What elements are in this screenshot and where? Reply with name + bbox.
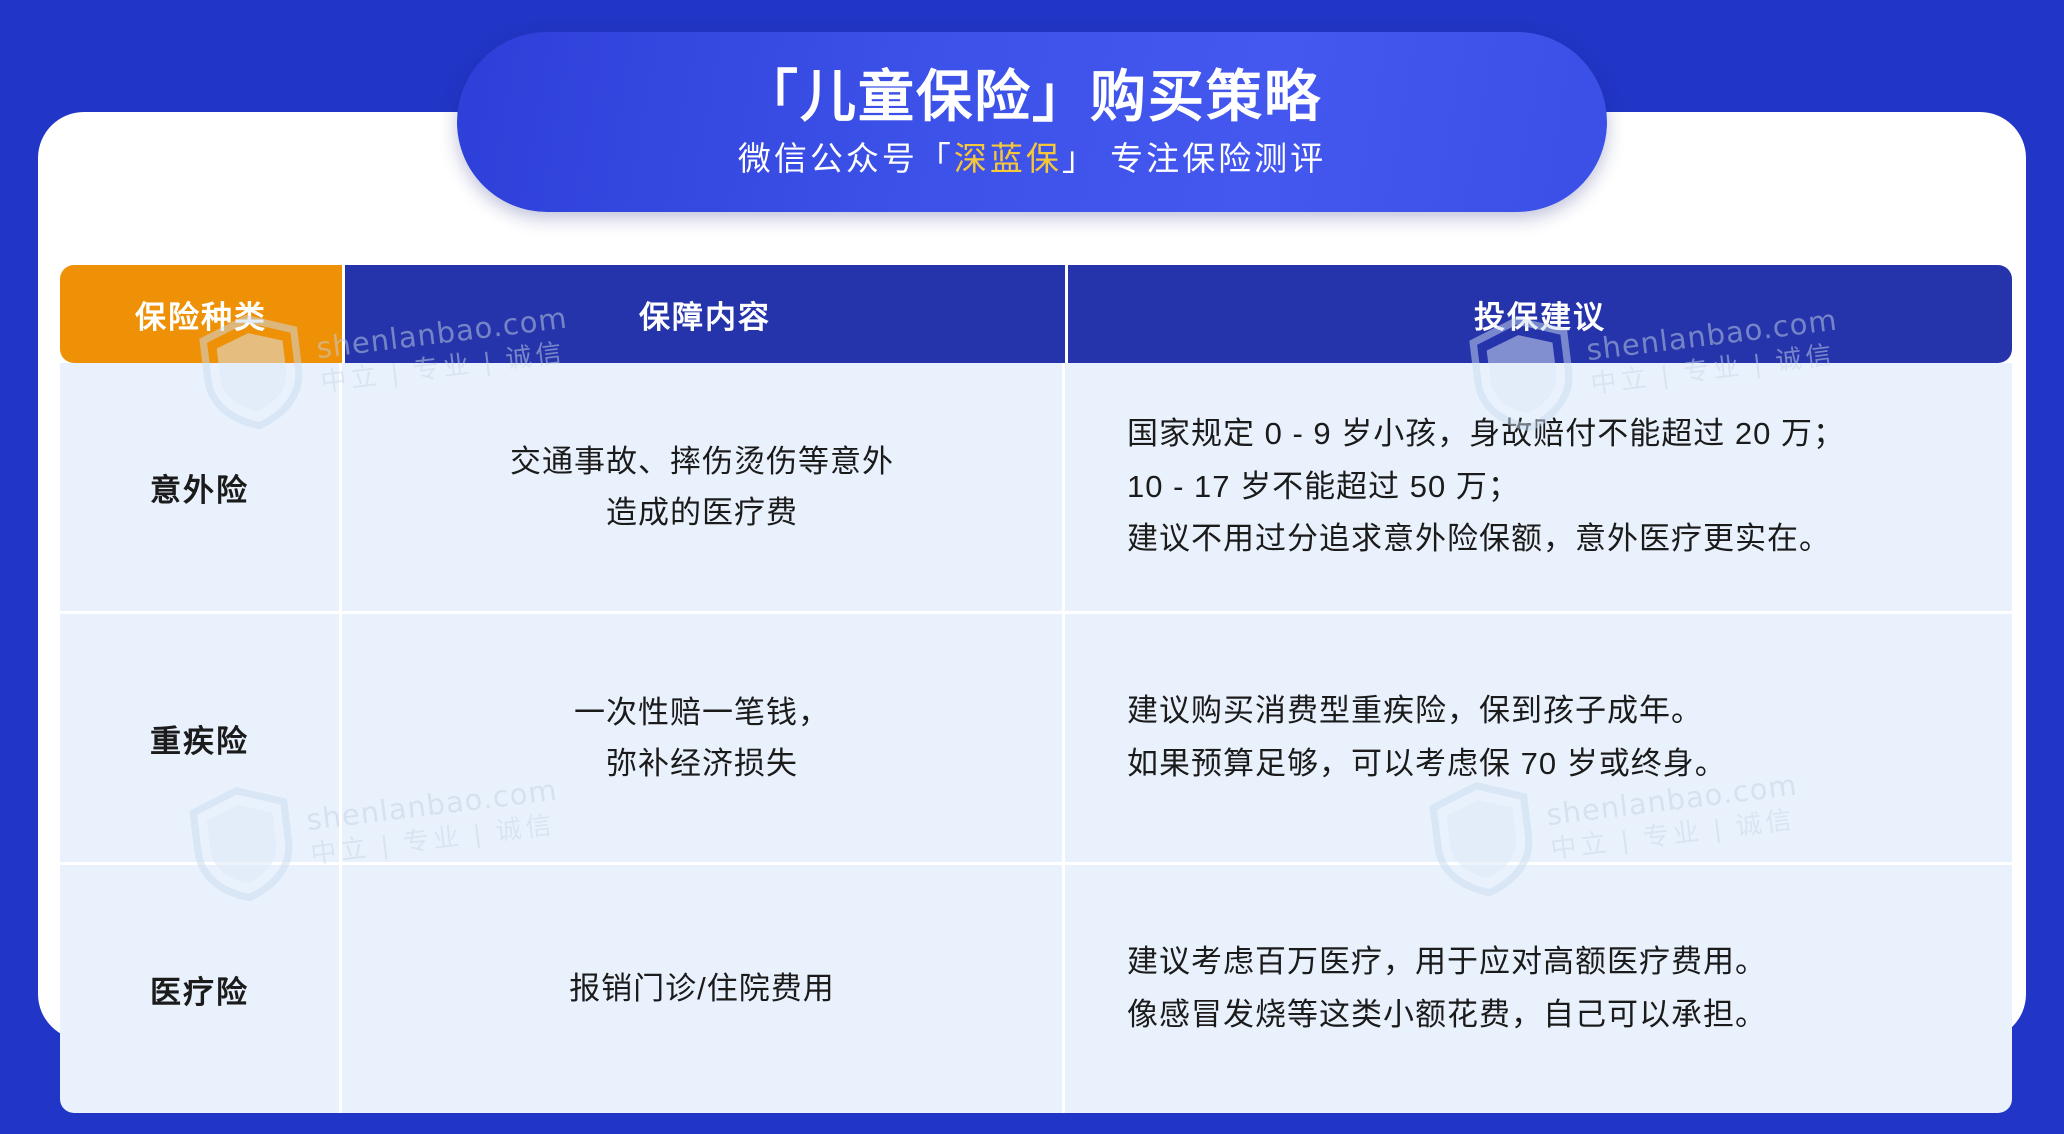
table-row: 意外险 交通事故、摔伤烫伤等意外 造成的医疗费 国家规定 0 - 9 岁小孩，身… xyxy=(60,363,2012,614)
table-row: 重疾险 一次性赔一笔钱， 弥补经济损失 建议购买消费型重疾险，保到孩子成年。 如… xyxy=(60,614,2012,865)
content-line: 一次性赔一笔钱， xyxy=(360,687,1044,738)
insurance-strategy-table: 保险种类 保障内容 投保建议 意外险 交通事故、摔伤烫伤等意外 造成的医疗费 国… xyxy=(60,265,2012,1113)
cell-kind: 重疾险 xyxy=(60,614,342,865)
cell-kind: 医疗险 xyxy=(60,865,342,1113)
content-line: 造成的医疗费 xyxy=(360,487,1044,538)
subtitle-suffix: 」 专注保险测评 xyxy=(1062,140,1326,177)
page-subtitle: 微信公众号「深蓝保」 专注保险测评 xyxy=(738,139,1326,179)
subtitle-prefix: 微信公众号「 xyxy=(738,140,954,177)
header-banner: 「儿童保险」购买策略 微信公众号「深蓝保」 专注保险测评 xyxy=(457,32,1607,212)
column-header-kind: 保险种类 xyxy=(60,265,342,363)
cell-content: 报销门诊/住院费用 xyxy=(342,865,1065,1113)
cell-content: 一次性赔一笔钱， 弥补经济损失 xyxy=(342,614,1065,865)
content-line: 交通事故、摔伤烫伤等意外 xyxy=(360,436,1044,487)
cell-advice: 国家规定 0 - 9 岁小孩，身故赔付不能超过 20 万； 10 - 17 岁不… xyxy=(1065,363,2012,614)
page-title: 「儿童保险」购买策略 xyxy=(742,65,1322,129)
table-header-row: 保险种类 保障内容 投保建议 xyxy=(60,265,2012,363)
advice-line: 10 - 17 岁不能超过 50 万； xyxy=(1127,461,1982,514)
advice-line: 建议考虑百万医疗，用于应对高额医疗费用。 xyxy=(1127,936,1982,989)
brand-name: 深蓝保 xyxy=(954,140,1062,177)
advice-line: 如果预算足够，可以考虑保 70 岁或终身。 xyxy=(1127,738,1982,791)
table-body: 意外险 交通事故、摔伤烫伤等意外 造成的医疗费 国家规定 0 - 9 岁小孩，身… xyxy=(60,363,2012,1113)
advice-line: 国家规定 0 - 9 岁小孩，身故赔付不能超过 20 万； xyxy=(1127,408,1982,461)
advice-line: 像感冒发烧等这类小额花费，自己可以承担。 xyxy=(1127,989,1982,1042)
cell-content: 交通事故、摔伤烫伤等意外 造成的医疗费 xyxy=(342,363,1065,614)
cell-advice: 建议购买消费型重疾险，保到孩子成年。 如果预算足够，可以考虑保 70 岁或终身。 xyxy=(1065,614,2012,865)
table-row: 医疗险 报销门诊/住院费用 建议考虑百万医疗，用于应对高额医疗费用。 像感冒发烧… xyxy=(60,865,2012,1113)
content-line: 报销门诊/住院费用 xyxy=(360,963,1044,1014)
content-line: 弥补经济损失 xyxy=(360,738,1044,789)
column-header-content: 保障内容 xyxy=(342,265,1065,363)
poster-root: shenlanbao.com 中立 | 专业 | 诚信 shenlanbao.c… xyxy=(0,0,2064,1134)
cell-advice: 建议考虑百万医疗，用于应对高额医疗费用。 像感冒发烧等这类小额花费，自己可以承担… xyxy=(1065,865,2012,1113)
table-header: 保险种类 保障内容 投保建议 xyxy=(60,265,2012,363)
cell-kind: 意外险 xyxy=(60,363,342,614)
advice-line: 建议购买消费型重疾险，保到孩子成年。 xyxy=(1127,685,1982,738)
advice-line: 建议不用过分追求意外险保额，意外医疗更实在。 xyxy=(1127,513,1982,566)
column-header-advice: 投保建议 xyxy=(1065,265,2012,363)
